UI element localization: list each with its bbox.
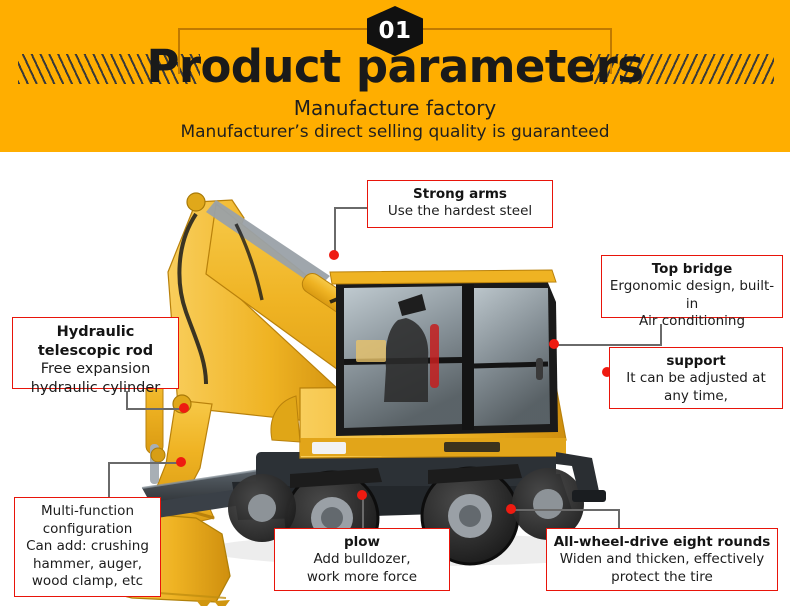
callout-all-wheel-drive[interactable]: All-wheel-drive eight rounds Widen and t…: [546, 528, 778, 591]
marker-dot-strong-arms: [329, 250, 339, 260]
leader-line-multifunction-h: [108, 462, 180, 464]
callout-hydraulic-title: Hydraulic telescopic rod: [19, 323, 172, 360]
callout-top-bridge-title: Top bridge: [608, 261, 776, 278]
callout-hydraulic-line-1: Free expansion: [19, 360, 172, 379]
callout-multifunction-line-2: configuration: [21, 521, 154, 539]
callout-strong-arms[interactable]: Strong arms Use the hardest steel: [367, 180, 553, 228]
leader-line-multifunction-v: [108, 462, 110, 500]
callout-strong-arms-title: Strong arms: [374, 186, 546, 203]
leader-line-top-bridge-h: [555, 344, 661, 346]
callout-multifunction-line-3: Can add: crushing: [21, 538, 154, 556]
diagram-area: Strong arms Use the hardest steel Top br…: [0, 152, 790, 606]
callout-awd-line-1: Widen and thicken, effectively: [553, 551, 771, 569]
callout-support-line-2: any time,: [616, 388, 776, 406]
callout-multifunction-line-1: Multi-function: [21, 503, 154, 521]
callout-plow-title: plow: [281, 534, 443, 551]
callout-hydraulic-line-2: hydraulic cylinder: [19, 379, 172, 398]
callout-support-line-1: It can be adjusted at: [616, 370, 776, 388]
header-subtitle-secondary: Manufacturer’s direct selling quality is…: [0, 124, 790, 141]
leader-line-strong-arms-v: [334, 207, 336, 255]
marker-dot-hydraulic: [179, 403, 189, 413]
callout-top-bridge-line-1: Ergonomic design, built-in: [608, 278, 776, 313]
callout-awd-title: All-wheel-drive eight rounds: [553, 534, 771, 551]
callout-awd-line-2: protect the tire: [553, 569, 771, 587]
page-title: Product parameters: [0, 44, 790, 89]
callout-top-bridge-line-2: Air conditioning: [608, 313, 776, 331]
marker-dot-multifunction: [176, 457, 186, 467]
callout-multifunction-line-5: wood clamp, etc: [21, 573, 154, 591]
callout-plow[interactable]: plow Add bulldozer, work more force: [274, 528, 450, 591]
leader-line-hydraulic-h: [126, 408, 185, 410]
callout-strong-arms-line-1: Use the hardest steel: [374, 203, 546, 221]
marker-dot-awd: [506, 504, 516, 514]
marker-dot-top-bridge: [549, 339, 559, 349]
header-subtitle-primary: Manufacture factory: [0, 98, 790, 118]
header-banner: 01 Product parameters Manufacture factor…: [0, 0, 790, 152]
callout-top-bridge[interactable]: Top bridge Ergonomic design, built-in Ai…: [601, 255, 783, 318]
callout-plow-line-1: Add bulldozer,: [281, 551, 443, 569]
callout-support[interactable]: support It can be adjusted at any time,: [609, 347, 783, 409]
leader-line-awd-h: [512, 509, 620, 511]
leader-line-strong-arms-h: [334, 207, 370, 209]
callout-plow-line-2: work more force: [281, 569, 443, 587]
callout-multi-function-configuration[interactable]: Multi-function configuration Can add: cr…: [14, 497, 161, 597]
marker-dot-plow: [357, 490, 367, 500]
callout-hydraulic-telescopic-rod[interactable]: Hydraulic telescopic rod Free expansion …: [12, 317, 179, 389]
callout-support-title: support: [616, 353, 776, 370]
leader-line-awd-v: [618, 509, 620, 529]
callout-multifunction-line-4: hammer, auger,: [21, 556, 154, 574]
product-parameters-infographic: 01 Product parameters Manufacture factor…: [0, 0, 790, 606]
